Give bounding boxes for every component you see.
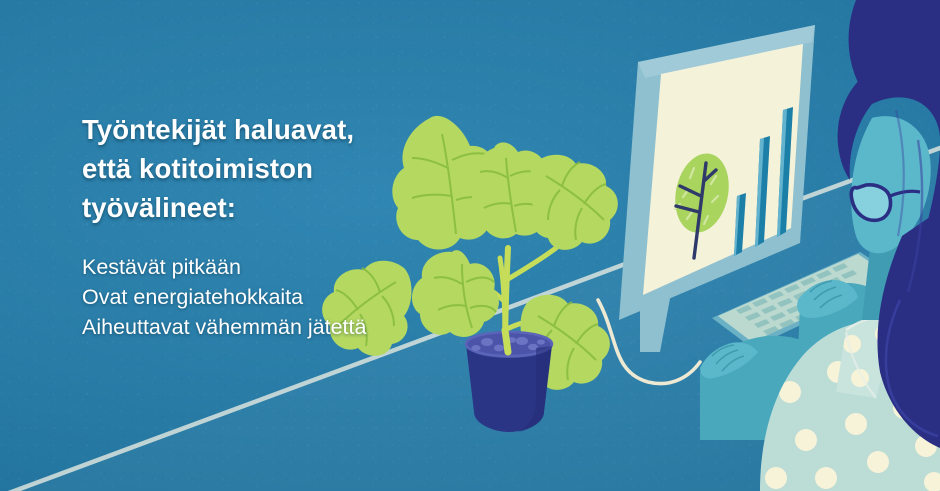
page-title: Työntekijät haluavat, että kotitoimiston…	[82, 110, 502, 227]
benefit-list: Kestävät pitkään Ovat energiatehokkaita …	[82, 252, 502, 342]
list-item: Aiheuttavat vähemmän jätettä	[82, 312, 502, 342]
banner-canvas: Työntekijät haluavat, että kotitoimiston…	[0, 0, 940, 491]
list-item: Ovat energiatehokkaita	[82, 282, 502, 312]
list-item: Kestävät pitkään	[82, 252, 502, 282]
text-block: Työntekijät haluavat, että kotitoimiston…	[82, 110, 502, 342]
